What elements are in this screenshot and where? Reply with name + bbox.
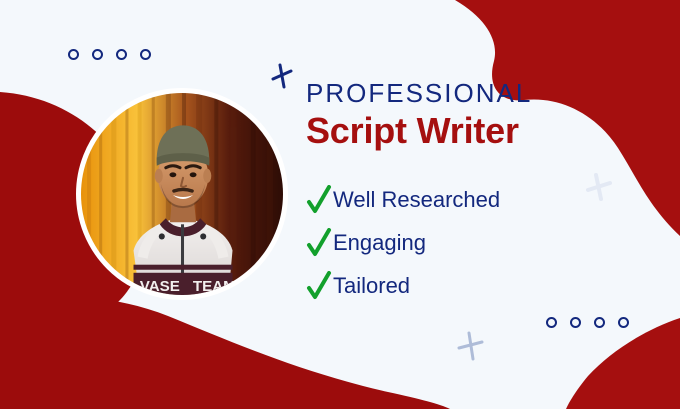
cross-icon-faint <box>584 172 614 202</box>
page-title: Script Writer <box>306 110 646 151</box>
page-eyebrow: PROFESSIONAL <box>306 80 646 107</box>
list-item-label: Tailored <box>333 275 410 297</box>
red-shape-bottom-right <box>566 318 680 409</box>
dot <box>116 49 127 60</box>
dot-group-top-left <box>68 49 151 60</box>
dot <box>618 317 629 328</box>
list-item: Tailored <box>306 264 626 307</box>
list-item: Engaging <box>306 221 626 264</box>
hoodie-text-left: VASE <box>140 278 180 295</box>
list-item-label: Engaging <box>333 232 426 254</box>
cross-icon-mid <box>455 330 487 362</box>
dot <box>570 317 581 328</box>
check-icon <box>306 185 332 215</box>
red-shape-bottom <box>0 296 450 409</box>
list-item: Well Researched <box>306 178 626 221</box>
portrait-frame: VASE TEAM <box>76 88 288 300</box>
feature-list: Well Researched Engaging Tailored <box>306 178 626 307</box>
banner-canvas: VASE TEAM <box>0 0 680 409</box>
check-icon <box>306 271 332 301</box>
portrait-photo: VASE TEAM <box>81 93 283 295</box>
dot <box>140 49 151 60</box>
dot <box>92 49 103 60</box>
cross-icon-navy <box>268 62 296 90</box>
portrait-clip: VASE TEAM <box>81 93 283 295</box>
headline-block: PROFESSIONAL Script Writer <box>306 80 646 152</box>
dot <box>68 49 79 60</box>
list-item-label: Well Researched <box>333 189 500 211</box>
dot <box>594 317 605 328</box>
check-icon <box>306 228 332 258</box>
dot-group-bottom-right <box>546 317 629 328</box>
dot <box>546 317 557 328</box>
